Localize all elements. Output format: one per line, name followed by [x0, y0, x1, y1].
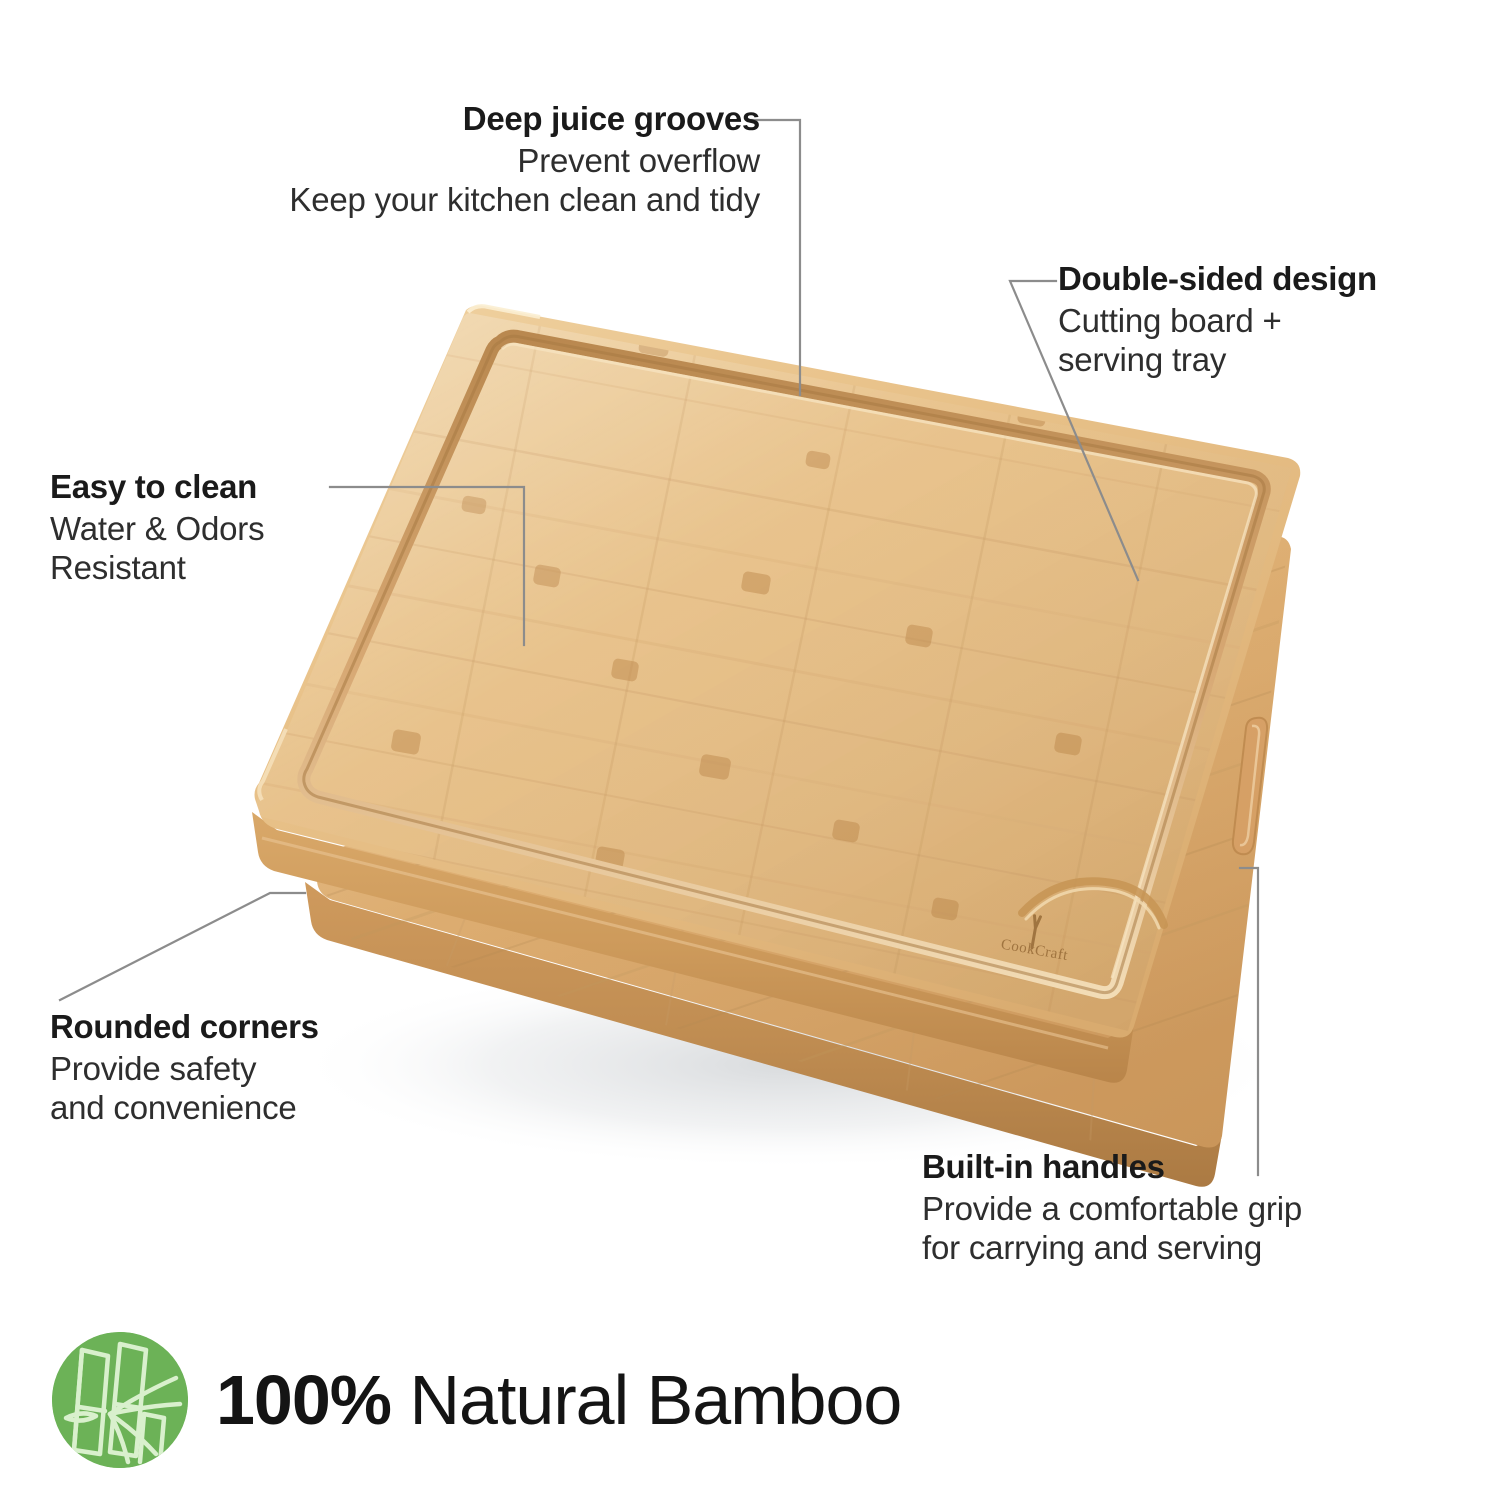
callout-built-in-handles: Built-in handles Provide a comfortable g… — [922, 1148, 1482, 1267]
product-image-bamboo-boards: CookCraft — [0, 0, 1500, 1500]
callout-line-2: and convenience — [50, 1089, 480, 1127]
banner-percent: 100% — [216, 1361, 391, 1439]
bamboo-stalks-icon — [52, 1332, 188, 1468]
natural-bamboo-banner: 100% Natural Bamboo — [52, 1332, 901, 1468]
callout-heading: Deep juice grooves — [60, 100, 760, 138]
callout-deep-juice-grooves: Deep juice grooves Prevent overflow Keep… — [60, 100, 760, 219]
callout-easy-to-clean: Easy to clean Water & Odors Resistant — [50, 468, 470, 587]
callout-line-1: Provide safety — [50, 1050, 480, 1088]
callout-line-2: for carrying and serving — [922, 1229, 1482, 1267]
callout-heading: Built-in handles — [922, 1148, 1482, 1186]
callout-line-2: Keep your kitchen clean and tidy — [60, 181, 760, 219]
callout-rounded-corners: Rounded corners Provide safety and conve… — [50, 1008, 480, 1127]
infographic-stage: CookCraft Deep juice grooves Prevent ove… — [0, 0, 1500, 1500]
callout-heading: Easy to clean — [50, 468, 470, 506]
callout-line-1: Provide a comfortable grip — [922, 1190, 1482, 1228]
callout-line-2: Resistant — [50, 549, 470, 587]
banner-label: 100% Natural Bamboo — [216, 1360, 901, 1440]
top-board: CookCraft — [250, 300, 1310, 1083]
callout-line-2: serving tray — [1058, 341, 1488, 379]
callout-line-1: Water & Odors — [50, 510, 470, 548]
banner-text: Natural Bamboo — [391, 1361, 901, 1439]
callout-heading: Rounded corners — [50, 1008, 480, 1046]
callout-double-sided-design: Double-sided design Cutting board + serv… — [1058, 260, 1488, 379]
callout-heading: Double-sided design — [1058, 260, 1488, 298]
callout-line-1: Cutting board + — [1058, 302, 1488, 340]
callout-line-1: Prevent overflow — [60, 142, 760, 180]
